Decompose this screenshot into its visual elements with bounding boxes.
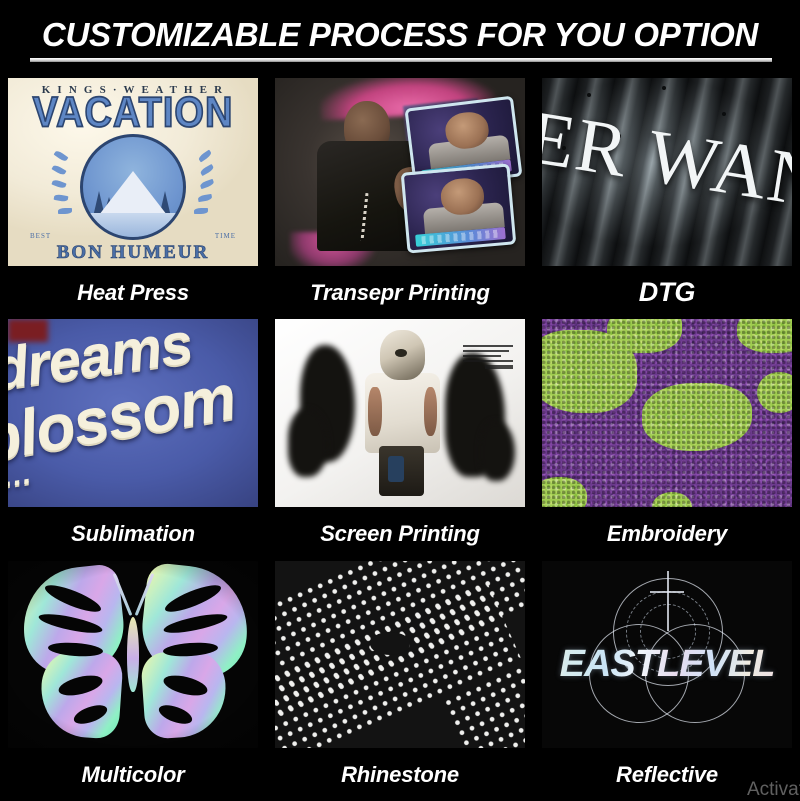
rhinestone-thumbnail[interactable] — [275, 561, 525, 748]
transfer-card-bottom — [401, 164, 516, 254]
process-cell-embroidery[interactable]: Embroidery — [542, 319, 792, 561]
heat-press-tiny-right: TIME — [215, 232, 236, 240]
reflective-thumbnail[interactable]: EASTLEVEL — [542, 561, 792, 748]
process-label-dtg: DTG — [542, 266, 792, 319]
heat-press-bottom-text: BON HUMEUR — [57, 242, 209, 264]
process-cell-dtg[interactable]: ER WANG DTG — [542, 78, 792, 319]
heat-press-main-text: VACATION — [33, 93, 234, 133]
transfer-printing-thumbnail[interactable] — [275, 78, 525, 266]
mountain-emblem-icon — [80, 134, 186, 240]
page-title: CUSTOMIZABLE PROCESS FOR YOU OPTION — [0, 16, 800, 54]
process-label-multicolor: Multicolor — [8, 748, 258, 801]
process-label-screen-printing: Screen Printing — [275, 507, 525, 560]
laurel-left-icon — [52, 145, 78, 229]
process-grid: K I N G S · W E A T H E R VACATION — [0, 78, 800, 801]
screen-print-figure — [365, 330, 440, 495]
heat-press-tiny-left: BEST — [30, 232, 51, 240]
chenille-texture-fine — [542, 319, 792, 507]
process-label-sublimation: Sublimation — [8, 507, 258, 560]
page-header: CUSTOMIZABLE PROCESS FOR YOU OPTION — [0, 0, 800, 78]
process-cell-multicolor[interactable]: Multicolor — [8, 561, 258, 801]
screen-printing-thumbnail[interactable] — [275, 319, 525, 507]
screen-print-text-block — [463, 345, 513, 372]
process-label-heat-press: Heat Press — [8, 266, 258, 319]
sublimation-thumbnail[interactable]: dreams blossom … — [8, 319, 258, 507]
process-cell-transfer-printing[interactable]: Transepr Printing — [275, 78, 525, 319]
process-cell-sublimation[interactable]: dreams blossom … Sublimation — [8, 319, 258, 561]
process-cell-reflective[interactable]: EASTLEVEL Reflective — [542, 561, 792, 801]
process-label-rhinestone: Rhinestone — [275, 748, 525, 801]
heat-press-emblem — [52, 134, 214, 240]
reflective-logo-text: EASTLEVEL — [542, 643, 792, 686]
process-cell-rhinestone[interactable]: Rhinestone — [275, 561, 525, 801]
process-cell-heat-press[interactable]: K I N G S · W E A T H E R VACATION — [8, 78, 258, 319]
butterfly-icon — [8, 561, 258, 748]
multicolor-thumbnail[interactable] — [8, 561, 258, 748]
embroidery-thumbnail[interactable] — [542, 319, 792, 507]
process-label-embroidery: Embroidery — [542, 507, 792, 560]
title-underline — [30, 58, 772, 62]
dtg-thumbnail[interactable]: ER WANG — [542, 78, 792, 266]
laurel-right-icon — [188, 145, 214, 229]
process-label-transfer-printing: Transepr Printing — [275, 266, 525, 319]
dtg-print-text: ER WANG — [542, 93, 792, 224]
process-cell-screen-printing[interactable]: Screen Printing — [275, 319, 525, 561]
process-label-reflective: Reflective — [542, 748, 792, 801]
heat-press-thumbnail[interactable]: K I N G S · W E A T H E R VACATION — [8, 78, 258, 266]
